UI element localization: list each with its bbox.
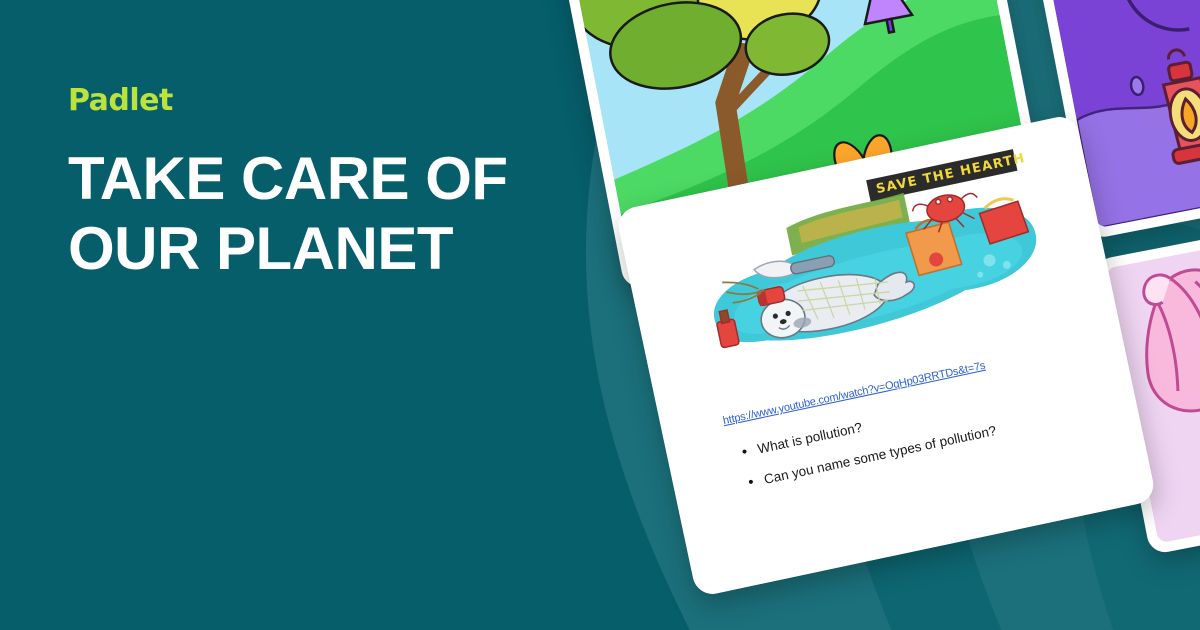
- save-the-hearth-banner: SAVE THE HEARTH: [865, 147, 1027, 202]
- page-title: TAKE CARE OF OUR PLANET: [68, 144, 588, 283]
- padlet-logo[interactable]: Padlet: [68, 86, 588, 116]
- headline-line-2: OUR PLANET: [68, 214, 588, 284]
- headline-line-1: TAKE CARE OF: [68, 144, 588, 214]
- question-list: What is pollution? Can you name some typ…: [741, 369, 1116, 507]
- hero-text-panel: Padlet TAKE CARE OF OUR PLANET: [68, 86, 588, 283]
